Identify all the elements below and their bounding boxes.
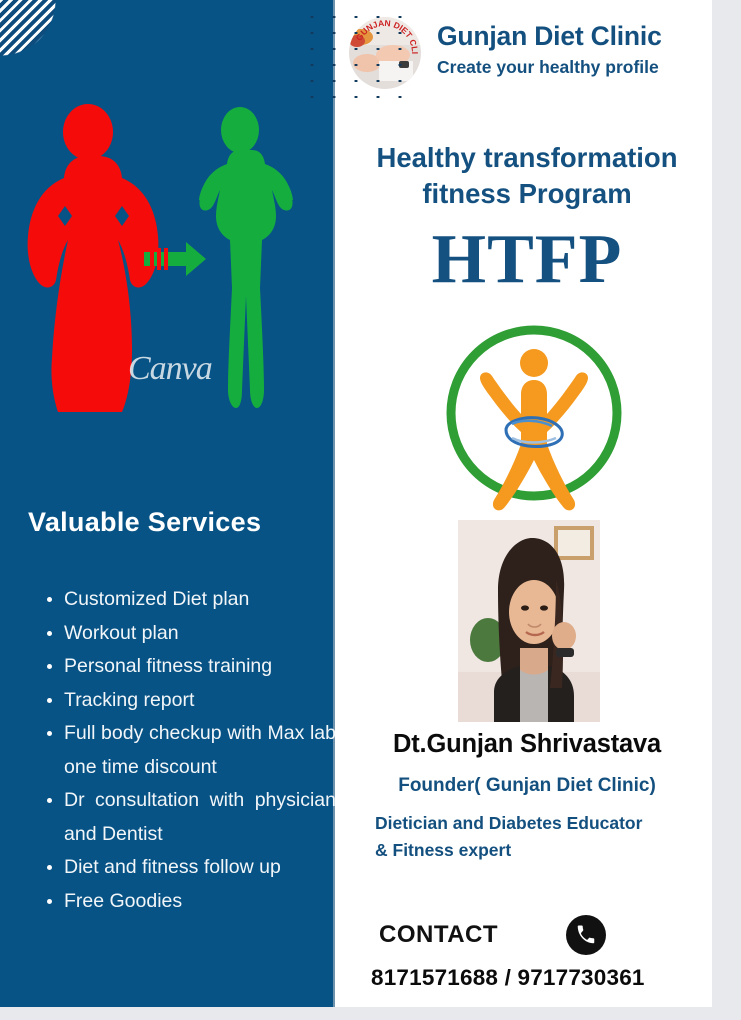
practitioner-name: Dt.Gunjan Shrivastava [341, 730, 713, 759]
credentials-line-2: & Fitness expert [375, 837, 705, 864]
practitioner-role: Founder( Gunjan Diet Clinic) [341, 775, 713, 797]
clinic-tagline: Create your healthy profile [437, 57, 659, 78]
transformation-illustration: Canva [10, 100, 330, 450]
list-item: Customized Diet plan [64, 583, 336, 617]
credentials-line-1: Dietician and Diabetes Educator [375, 810, 705, 837]
list-item: Diet and fitness follow up [64, 851, 336, 885]
list-item: Workout plan [64, 617, 336, 651]
list-item: Personal fitness training [64, 650, 336, 684]
services-list: Customized Diet plan Workout plan Person… [40, 583, 336, 918]
program-headline: Healthy transformation fitness Program [341, 140, 713, 212]
phone-icon[interactable] [566, 915, 606, 955]
jumping-person-in-circle-icon [442, 318, 627, 513]
right-content-column: GUNJAN DIET CLINIC Gunjan Diet Clinic Cr… [337, 0, 712, 1007]
poster-root: Canva Valuable Services Customized Diet … [0, 0, 741, 1020]
corner-stripe-decoration [0, 0, 56, 56]
list-item: Free Goodies [64, 885, 336, 919]
clinic-name: Gunjan Diet Clinic [437, 21, 662, 52]
practitioner-credentials: Dietician and Diabetes Educator & Fitnes… [375, 810, 705, 864]
practitioner-portrait [458, 520, 600, 722]
program-acronym: HTFP [341, 222, 713, 298]
contact-row: CONTACT [379, 915, 709, 959]
headline-line-2: fitness Program [341, 176, 713, 212]
silhouette-svg [10, 100, 330, 450]
dot-grid-decoration [298, 6, 408, 106]
list-item: Tracking report [64, 684, 336, 718]
contact-numbers: 8171571688 / 9717730361 [371, 965, 711, 991]
contact-label: CONTACT [379, 921, 498, 949]
list-item: Full body checkup with Max lab one time … [64, 717, 336, 784]
headline-line-1: Healthy transformation [341, 140, 713, 176]
services-title: Valuable Services [28, 507, 318, 538]
slim-female-silhouette [199, 107, 293, 408]
list-item: Dr consultation with physician and Denti… [64, 784, 336, 851]
overweight-female-silhouette [28, 104, 159, 412]
